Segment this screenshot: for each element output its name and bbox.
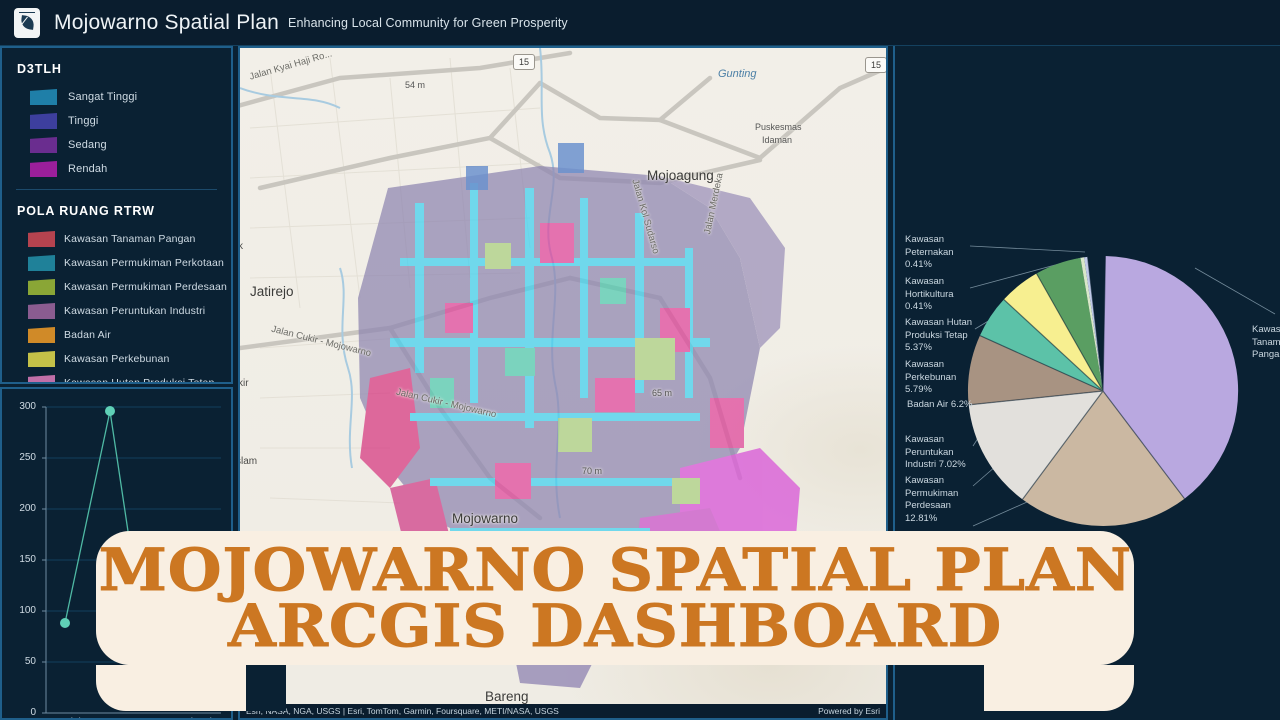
- legend-title-rtrw: POLA RUANG RTRW: [2, 190, 231, 227]
- pie-label: Kawasan Peruntukan Industri 7.02%: [905, 434, 991, 472]
- map-label-clipped: k: [238, 241, 243, 252]
- overlay-title-line2: ARCGIS DASHBOARD: [228, 598, 1002, 654]
- pie-label-line: Pangan: [1252, 349, 1280, 362]
- pie-label-line: Badan Air 6.2%: [907, 399, 997, 412]
- attribution-sources: Esri, NASA, NGA, USGS | Esri, TomTom, Ga…: [246, 706, 559, 716]
- pie-label-line: Kawasan: [1252, 324, 1280, 337]
- pie-label-line: Peruntukan: [905, 447, 991, 460]
- y-axis-tick-label: 100: [6, 605, 36, 616]
- pie-label-line: Kawasan: [905, 475, 981, 488]
- legend-swatch-icon: [30, 89, 57, 105]
- legend-swatch-icon: [28, 231, 55, 247]
- pie-label: Kawasan Perkebunan 5.79%: [905, 359, 981, 397]
- map-label: Bareng: [485, 689, 529, 704]
- legend-swatch-icon: [30, 137, 57, 153]
- pie-label-line: 0.41%: [905, 259, 981, 272]
- legend-group-d3tlh: D3TLH Sangat Tinggi Tinggi Sedang Rendah: [2, 48, 231, 185]
- map-label: Mojoagung: [647, 168, 714, 183]
- pie-label-line: 5.37%: [905, 342, 989, 355]
- pie-label-line: Tanaman: [1252, 337, 1280, 350]
- map-label: Gunting: [718, 68, 757, 80]
- map-attribution: Esri, NASA, NGA, USGS | Esri, TomTom, Ga…: [240, 704, 886, 718]
- app-header: Mojowarno Spatial Plan Enhancing Local C…: [0, 0, 1280, 46]
- map-label: Idaman: [762, 135, 792, 145]
- legend-swatch-icon: [28, 351, 55, 367]
- app-subtitle: Enhancing Local Community for Green Pros…: [288, 16, 568, 30]
- y-axis-tick-label: 0: [6, 707, 36, 718]
- highway-shield-icon: 15: [513, 54, 535, 70]
- legend-item[interactable]: Kawasan Hutan Produksi Tetap: [2, 371, 231, 384]
- map-label: Puskesmas: [755, 122, 802, 132]
- dashboard-root: Mojowarno Spatial Plan Enhancing Local C…: [0, 0, 1280, 720]
- pie-label: Kawasan Peternakan 0.41%: [905, 234, 981, 272]
- pie-label-line: Produksi Tetap: [905, 330, 989, 343]
- legend-item-label: Sangat Tinggi: [68, 91, 137, 103]
- pie-label-line: Kawasan: [905, 234, 981, 247]
- map-label: 54 m: [405, 80, 425, 90]
- pie-label-line: Kawasan: [905, 276, 981, 289]
- legend-item-label: Kawasan Permukiman Perdesaan: [64, 281, 227, 293]
- legend-swatch-icon: [28, 303, 55, 319]
- pie-label-line: Kawasan: [905, 359, 981, 372]
- pie-label-line: Perkebunan: [905, 372, 981, 385]
- legend-item[interactable]: Sangat Tinggi: [2, 85, 231, 109]
- legend-swatch-icon: [28, 279, 55, 295]
- overlay-notch-right: [944, 665, 984, 711]
- legend-item[interactable]: Rendah: [2, 157, 231, 181]
- pie-label-line: Perdesaan: [905, 500, 981, 513]
- legend-swatch-icon: [28, 255, 55, 271]
- legend-item-label: Badan Air: [64, 329, 111, 341]
- map-label-clipped: kir: [238, 378, 249, 389]
- map-label: Mojowarno: [452, 511, 518, 526]
- legend-item[interactable]: Sedang: [2, 133, 231, 157]
- data-point: [105, 406, 115, 416]
- legend-item[interactable]: Kawasan Perkebunan: [2, 347, 231, 371]
- legend-title-d3tlh: D3TLH: [2, 48, 231, 85]
- highway-shield-icon: 15: [865, 57, 887, 73]
- y-axis-tick-label: 50: [6, 656, 36, 667]
- pie-label-line: Kawasan Hutan: [905, 317, 989, 330]
- legend-swatch-icon: [28, 327, 55, 343]
- legend-panel[interactable]: D3TLH Sangat Tinggi Tinggi Sedang Rendah: [0, 46, 233, 384]
- pie-label: Kawasan Tanaman Pangan: [1252, 324, 1280, 362]
- y-axis-tick-label: 200: [6, 503, 36, 514]
- legend-swatch-icon: [30, 161, 57, 177]
- pie-label: Kawasan Permukiman Perdesaan 12.81%: [905, 475, 981, 525]
- legend-item[interactable]: Kawasan Permukiman Perkotaan: [2, 251, 231, 275]
- pie-slices: [968, 256, 1238, 526]
- legend-item-label: Sedang: [68, 139, 107, 151]
- pie-label-line: 5.79%: [905, 384, 981, 397]
- legend-item-label: Tinggi: [68, 115, 98, 127]
- pie-label: Kawasan Hortikultura 0.41%: [905, 276, 981, 314]
- legend-item-label: Rendah: [68, 163, 107, 175]
- legend-item[interactable]: Kawasan Peruntukan Industri: [2, 299, 231, 323]
- data-point: [60, 618, 70, 628]
- legend-item[interactable]: Kawasan Permukiman Perdesaan: [2, 275, 231, 299]
- y-axis-tick-label: 250: [6, 452, 36, 463]
- app-title: Mojowarno Spatial Plan: [54, 11, 279, 35]
- pie-label-line: Permukiman: [905, 488, 981, 501]
- legend-item-label: Kawasan Permukiman Perkotaan: [64, 257, 224, 269]
- pie-label: Badan Air 6.2%: [907, 399, 997, 412]
- legend-swatch-icon: [30, 113, 57, 129]
- pie-label-line: Hortikultura: [905, 289, 981, 302]
- legend-item[interactable]: Badan Air: [2, 323, 231, 347]
- map-label: 65 m: [652, 388, 672, 398]
- title-overlay: MOJOWARNO SPATIAL PLAN ARCGIS DASHBOARD: [96, 531, 1134, 665]
- pie-label-line: Industri 7.02%: [905, 459, 991, 472]
- pie-label-line: Peternakan: [905, 247, 981, 260]
- pie-label-line: 12.81%: [905, 513, 981, 526]
- overlay-title-line1: MOJOWARNO SPATIAL PLAN: [98, 542, 1131, 598]
- pie-label-line: Kawasan: [905, 434, 991, 447]
- legend-item-label: Kawasan Perkebunan: [64, 353, 169, 365]
- legend-item-label: Kawasan Peruntukan Industri: [64, 305, 205, 317]
- legend-item-label: Kawasan Hutan Produksi Tetap: [64, 377, 215, 384]
- legend-item[interactable]: Kawasan Tanaman Pangan: [2, 227, 231, 251]
- powered-by-esri: Powered by Esri: [818, 706, 880, 716]
- map-label: 70 m: [582, 466, 602, 476]
- y-axis-tick-label: 300: [6, 401, 36, 412]
- y-axis-tick-label: 150: [6, 554, 36, 565]
- leaf-badge-icon: [14, 8, 40, 38]
- overlay-notch-left: [246, 665, 286, 711]
- legend-item-label: Kawasan Tanaman Pangan: [64, 233, 196, 245]
- map-label: Jatirejo: [250, 284, 294, 299]
- legend-swatch-icon: [28, 375, 55, 384]
- legend-group-rtrw: POLA RUANG RTRW Kawasan Tanaman Pangan K…: [2, 190, 231, 384]
- pie-label: Kawasan Hutan Produksi Tetap 5.37%: [905, 317, 989, 355]
- legend-item[interactable]: Tinggi: [2, 109, 231, 133]
- pie-label-line: 0.41%: [905, 301, 981, 314]
- map-label-clipped: slam: [238, 456, 257, 467]
